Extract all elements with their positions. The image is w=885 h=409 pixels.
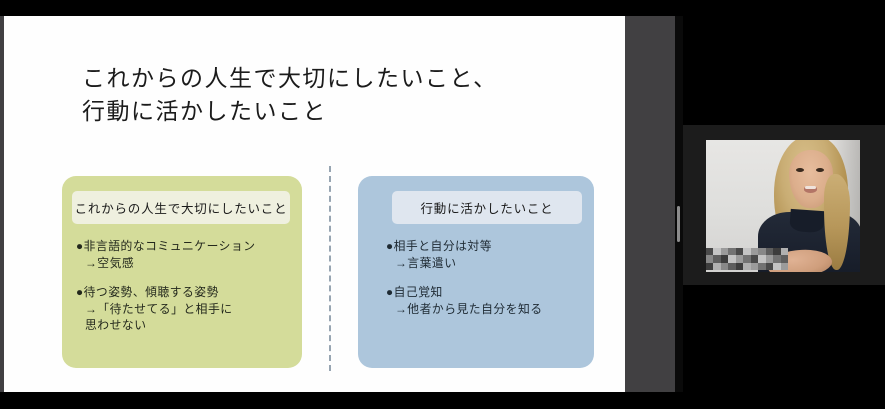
participant-name-badge-redacted [706, 248, 788, 270]
bullet-item: ●相手と自分は対等 →言葉遣い [386, 238, 586, 271]
slide-title: これからの人生で大切にしたいこと、 行動に活かしたいこと [82, 62, 602, 128]
bullet-head: ●相手と自分は対等 [386, 238, 586, 255]
panel-splitter[interactable] [675, 16, 683, 392]
person-eye-left [796, 168, 804, 172]
bullet-sub: →「待たせてる」と相手に 思わせない [76, 301, 294, 334]
slide-card-right-bullets: ●相手と自分は対等 →言葉遣い ●自己覚知 →他者から見た自分を知る [386, 238, 586, 317]
letterbox-bottom [0, 392, 885, 409]
slide-card-left-bullets: ●非言語的なコミュニケーション →空気感 ●待つ姿勢、傾聴する姿勢 →「待たせて… [76, 238, 294, 334]
presentation-slide[interactable]: これからの人生で大切にしたいこと、 行動に活かしたいこと これからの人生で大切に… [4, 16, 625, 392]
video-meeting-screen: これからの人生で大切にしたいこと、 行動に活かしたいこと これからの人生で大切に… [0, 0, 885, 409]
bullet-head: ●自己覚知 [386, 284, 586, 301]
bullet-item: ●待つ姿勢、傾聴する姿勢 →「待たせてる」と相手に 思わせない [76, 284, 294, 334]
bullet-head: ●待つ姿勢、傾聴する姿勢 [76, 284, 294, 301]
slide-card-left-header: これからの人生で大切にしたいこと [72, 191, 290, 224]
person-teeth [805, 186, 816, 189]
bullet-sub: →他者から見た自分を知る [386, 301, 586, 318]
slide-card-left: これからの人生で大切にしたいこと ●非言語的なコミュニケーション →空気感 ●待… [62, 176, 302, 368]
participant-video-panel[interactable] [683, 0, 885, 409]
bullet-item: ●自己覚知 →他者から見た自分を知る [386, 284, 586, 317]
bullet-head: ●非言語的なコミュニケーション [76, 238, 294, 255]
person-eye-right [816, 168, 824, 172]
slide-card-right: 行動に活かしたいこと ●相手と自分は対等 →言葉遣い ●自己覚知 →他者から見た… [358, 176, 594, 368]
slide-dashed-divider [329, 166, 331, 371]
bullet-item: ●非言語的なコミュニケーション →空気感 [76, 238, 294, 271]
slide-card-right-header: 行動に活かしたいこと [392, 191, 582, 224]
participant-video-tile[interactable] [683, 125, 885, 285]
shared-screen-region[interactable]: これからの人生で大切にしたいこと、 行動に活かしたいこと これからの人生で大切に… [0, 16, 675, 392]
participant-camera-feed [706, 140, 860, 272]
bullet-sub: →空気感 [76, 255, 294, 272]
person-collar [789, 209, 824, 233]
bullet-sub: →言葉遣い [386, 255, 586, 272]
letterbox-top [0, 0, 885, 16]
splitter-grip-icon[interactable] [677, 206, 680, 242]
